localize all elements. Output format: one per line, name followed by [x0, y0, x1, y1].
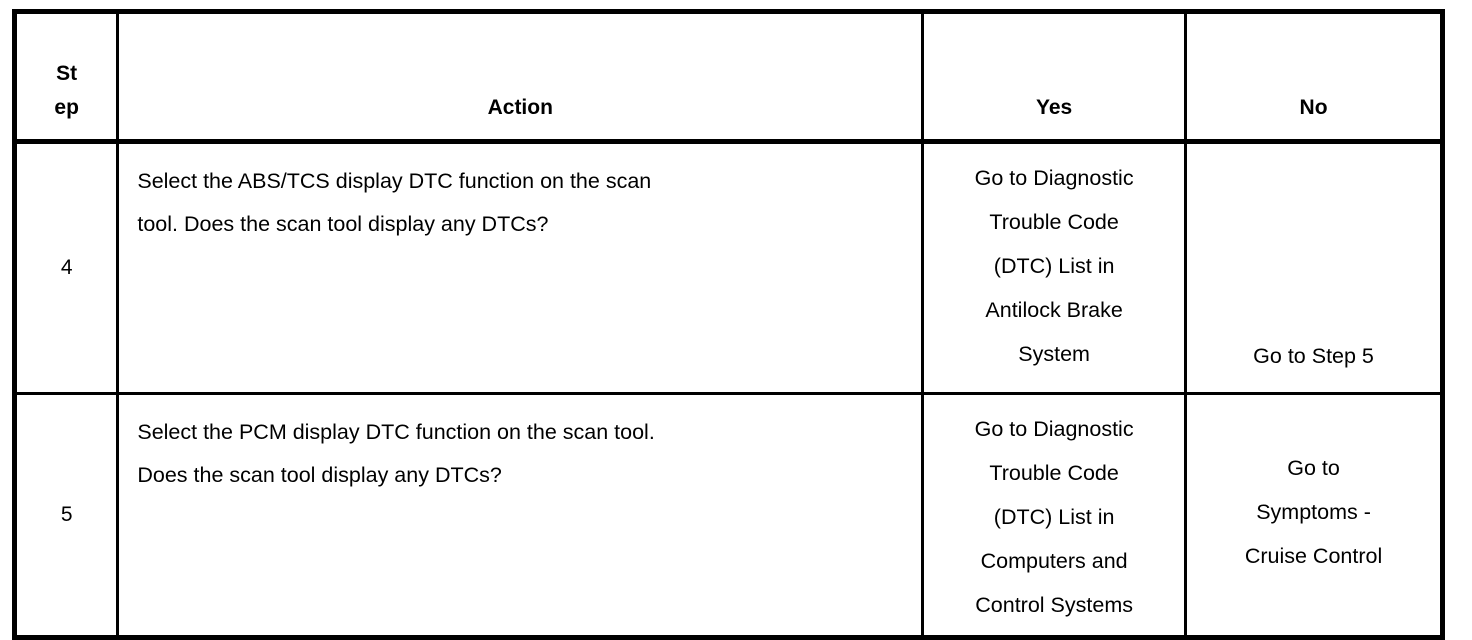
- action-line: Select the ABS/TCS display DTC function …: [137, 160, 911, 203]
- cell-action: Select the ABS/TCS display DTC function …: [118, 142, 923, 394]
- table-row: 5 Select the PCM display DTC function on…: [15, 394, 1443, 638]
- yes-line: Go to Diagnostic: [932, 156, 1176, 200]
- page-root: St ep Action Yes No 4 Select the ABS/TCS…: [0, 0, 1472, 626]
- cell-no: Go to Step 5: [1186, 142, 1443, 394]
- cell-no: Go to Symptoms - Cruise Control: [1186, 394, 1443, 638]
- table-body: 4 Select the ABS/TCS display DTC functio…: [15, 142, 1443, 638]
- column-header-step-line1: St: [17, 57, 116, 91]
- column-header-no: No: [1186, 12, 1443, 142]
- column-header-step-line2: ep: [17, 91, 116, 125]
- yes-line: Antilock Brake: [932, 288, 1176, 332]
- yes-line: Trouble Code: [932, 451, 1176, 495]
- no-line: Go to Step 5: [1195, 334, 1432, 378]
- no-line: Cruise Control: [1195, 534, 1432, 578]
- no-line: Symptoms -: [1195, 490, 1432, 534]
- cell-step-number: 5: [15, 394, 118, 638]
- header-row: St ep Action Yes No: [15, 12, 1443, 142]
- action-line: tool. Does the scan tool display any DTC…: [137, 203, 911, 246]
- cell-step-number: 4: [15, 142, 118, 394]
- column-header-yes: Yes: [923, 12, 1186, 142]
- cell-action: Select the PCM display DTC function on t…: [118, 394, 923, 638]
- table-row: 4 Select the ABS/TCS display DTC functio…: [15, 142, 1443, 394]
- yes-line: Computers and: [932, 539, 1176, 583]
- yes-line: Trouble Code: [932, 200, 1176, 244]
- yes-line: System: [932, 332, 1176, 376]
- cell-yes: Go to Diagnostic Trouble Code (DTC) List…: [923, 142, 1186, 394]
- column-header-step: St ep: [15, 12, 118, 142]
- diagnostic-step-table: St ep Action Yes No 4 Select the ABS/TCS…: [12, 9, 1445, 640]
- yes-line: (DTC) List in: [932, 244, 1176, 288]
- action-line: Select the PCM display DTC function on t…: [137, 411, 911, 454]
- yes-line: Control Systems: [932, 583, 1176, 627]
- column-header-action: Action: [118, 12, 923, 142]
- cell-yes: Go to Diagnostic Trouble Code (DTC) List…: [923, 394, 1186, 638]
- yes-line: (DTC) List in: [932, 495, 1176, 539]
- no-line: Go to: [1195, 446, 1432, 490]
- action-line: Does the scan tool display any DTCs?: [137, 454, 911, 497]
- table-header: St ep Action Yes No: [15, 12, 1443, 142]
- yes-line: Go to Diagnostic: [932, 407, 1176, 451]
